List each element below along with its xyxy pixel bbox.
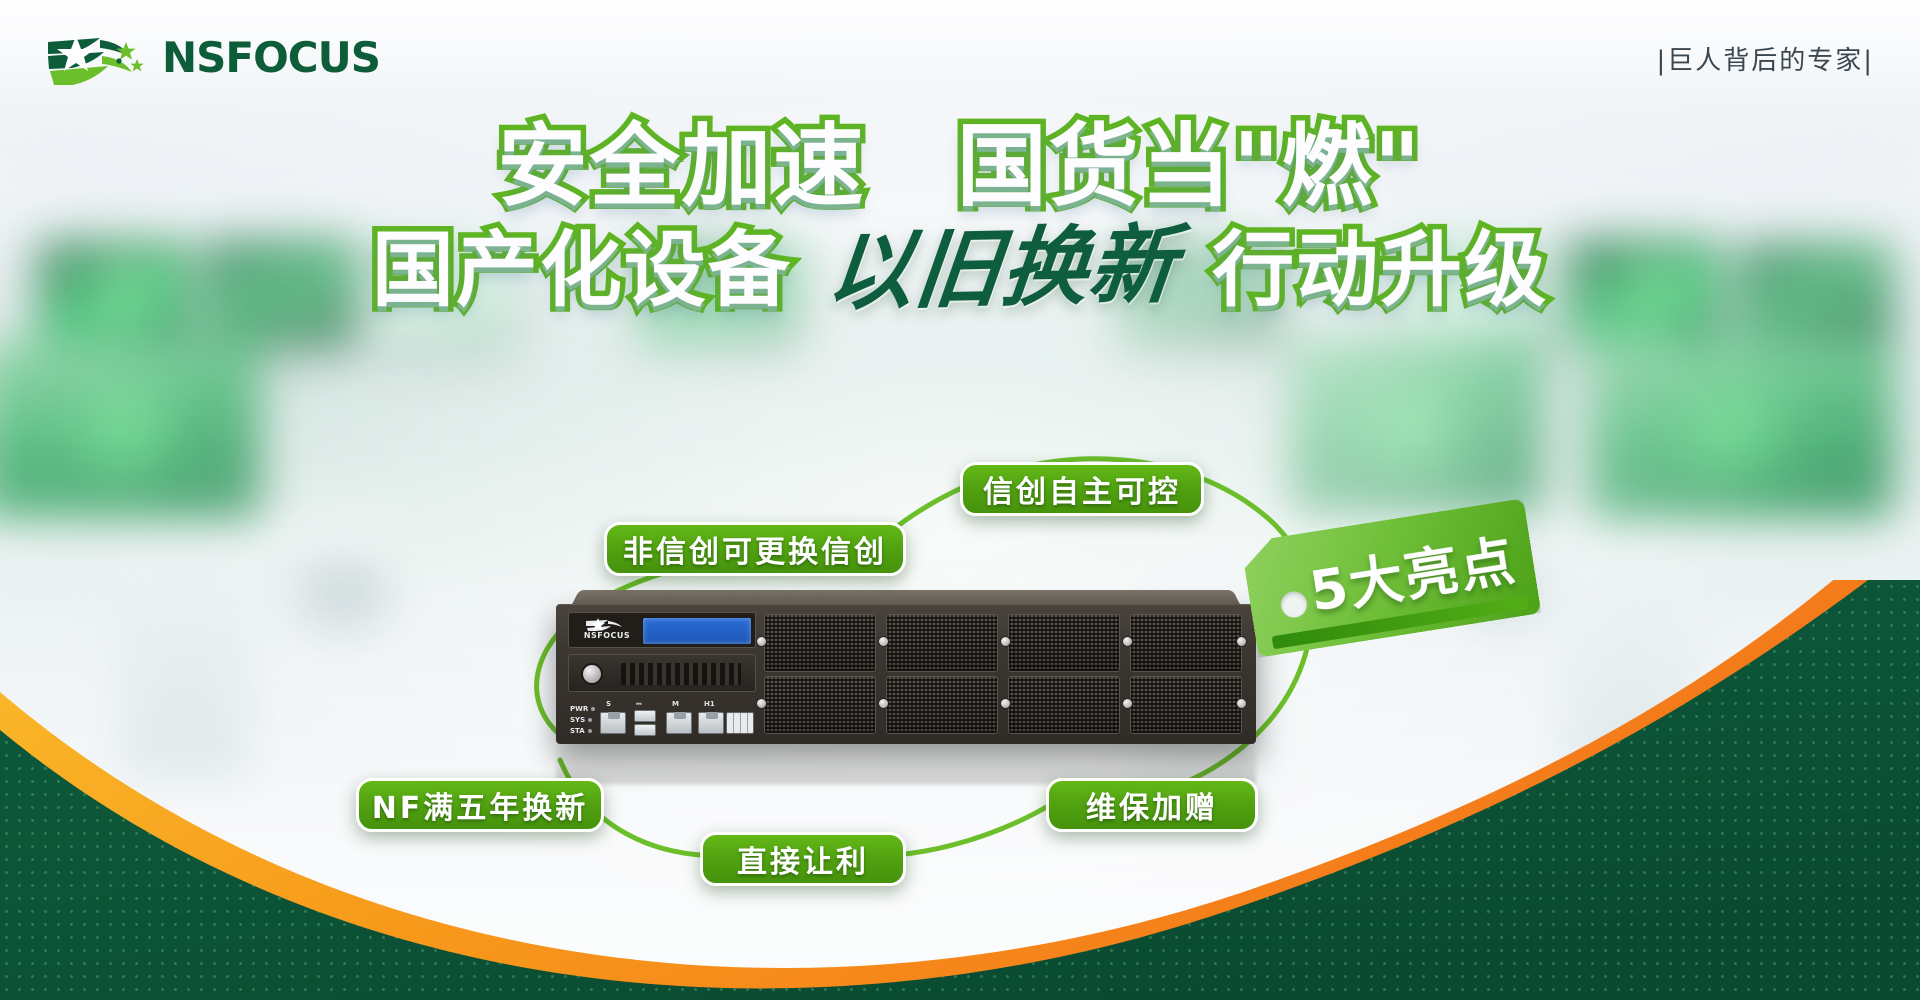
headline-line-1: 安全加速 国货当"燃" xyxy=(0,120,1920,215)
nsfocus-flag-star-icon xyxy=(42,28,152,88)
headline-line2-part2: 行动升级 xyxy=(1212,223,1548,318)
brand-logo: NSFOCUS xyxy=(42,28,380,88)
promo-banner: NSFOCUS |巨人背后的专家| 安全加速 国货当"燃" 国产化设备 以旧换新… xyxy=(0,0,1920,1000)
label-non-xinchuang-replace[interactable]: 非信创可更换信创 xyxy=(604,522,906,576)
label-direct-discount[interactable]: 直接让利 xyxy=(700,832,906,886)
headline-line-2: 国产化设备 以旧换新 行动升级 xyxy=(0,221,1920,317)
label-nf-five-year-renew[interactable]: NF满五年换新 xyxy=(356,778,604,832)
brand-logo-text: NSFOCUS xyxy=(162,37,380,79)
dot-texture xyxy=(0,580,1920,1000)
headline-line2-part1: 国产化设备 xyxy=(372,223,792,318)
brand-tagline: |巨人背后的专家| xyxy=(1656,40,1874,77)
headline-brush-calligraphy: 以旧换新 xyxy=(813,217,1192,321)
banner-header: NSFOCUS |巨人背后的专家| xyxy=(0,0,1920,110)
label-xinchuang-autonomous[interactable]: 信创自主可控 xyxy=(960,462,1204,516)
headline-line1-part2: 国货当"燃" xyxy=(957,114,1423,219)
bottom-wave-decoration xyxy=(0,580,1920,1000)
headline-block: 安全加速 国货当"燃" 国产化设备 以旧换新 行动升级 xyxy=(0,120,1920,317)
headline-line1-part1: 安全加速 xyxy=(498,114,866,219)
label-maintenance-bonus[interactable]: 维保加赠 xyxy=(1046,778,1258,832)
